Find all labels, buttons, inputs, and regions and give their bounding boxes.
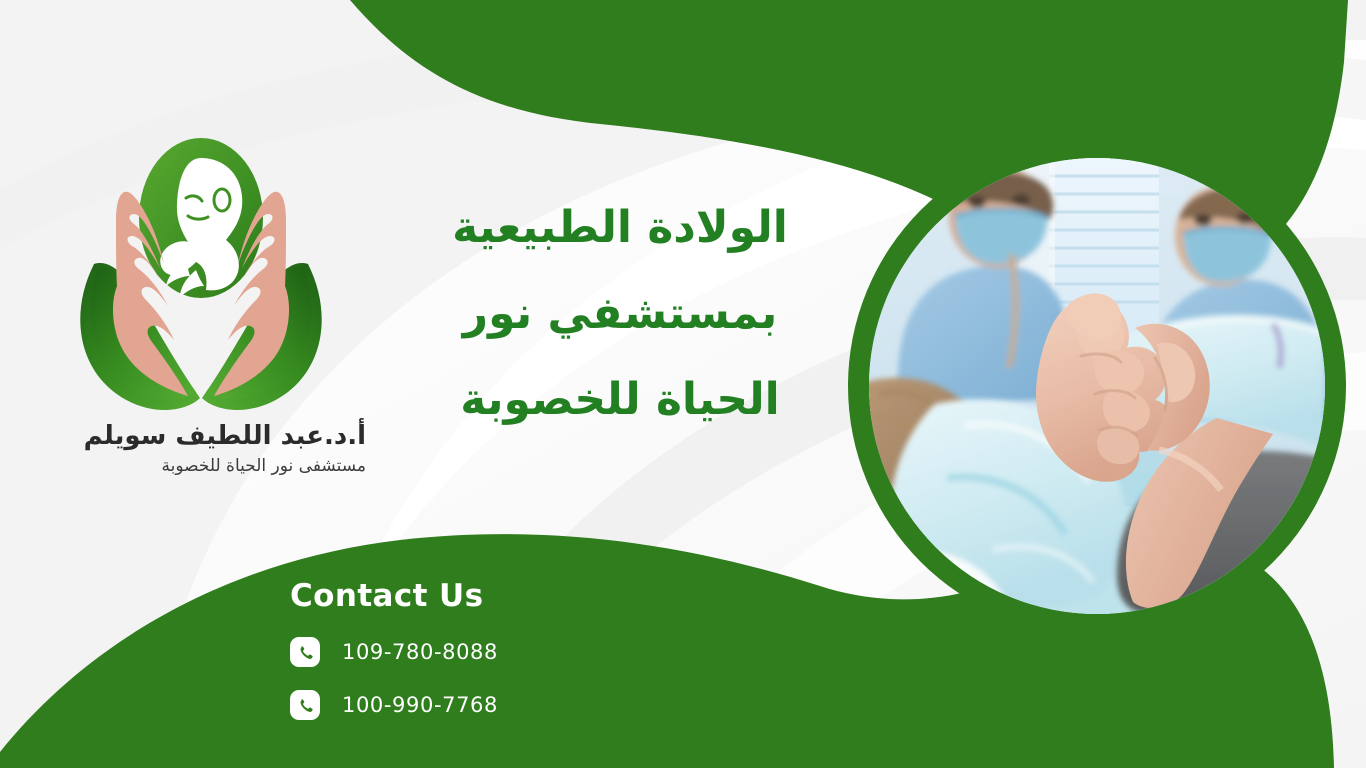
contact-section: Contact Us 109-780-8088 100-990-7768 <box>290 578 710 720</box>
contact-item-1[interactable]: 109-780-8088 <box>290 637 710 667</box>
page-title: الولادة الطبيعية بمستشفي نور الحياة للخص… <box>410 185 830 442</box>
logo-doctor-name: أ.د.عبد اللطيف سويلم <box>36 420 366 453</box>
headline-line-3: الحياة للخصوبة <box>410 357 830 443</box>
logo-text-block: أ.د.عبد اللطيف سويلم مستشفى نور الحياة ل… <box>36 420 366 478</box>
headline-line-1: الولادة الطبيعية <box>410 185 830 271</box>
contact-number-2: 100-990-7768 <box>342 693 498 717</box>
circular-photo-frame <box>848 137 1346 635</box>
fetus-emblem-icon <box>139 138 263 298</box>
contact-number-1: 109-780-8088 <box>342 640 498 664</box>
banner-canvas: أ.د.عبد اللطيف سويلم مستشفى نور الحياة ل… <box>0 0 1366 768</box>
childbirth-photo <box>869 158 1325 614</box>
contact-title: Contact Us <box>290 578 710 614</box>
contact-item-2[interactable]: 100-990-7768 <box>290 690 710 720</box>
phone-icon <box>290 637 320 667</box>
logo-mark-icon <box>36 120 366 430</box>
hospital-logo: أ.د.عبد اللطيف سويلم مستشفى نور الحياة ل… <box>36 120 366 520</box>
logo-hospital-name: مستشفى نور الحياة للخصوبة <box>36 455 366 479</box>
phone-icon <box>290 690 320 720</box>
headline-line-2: بمستشفي نور <box>410 271 830 357</box>
